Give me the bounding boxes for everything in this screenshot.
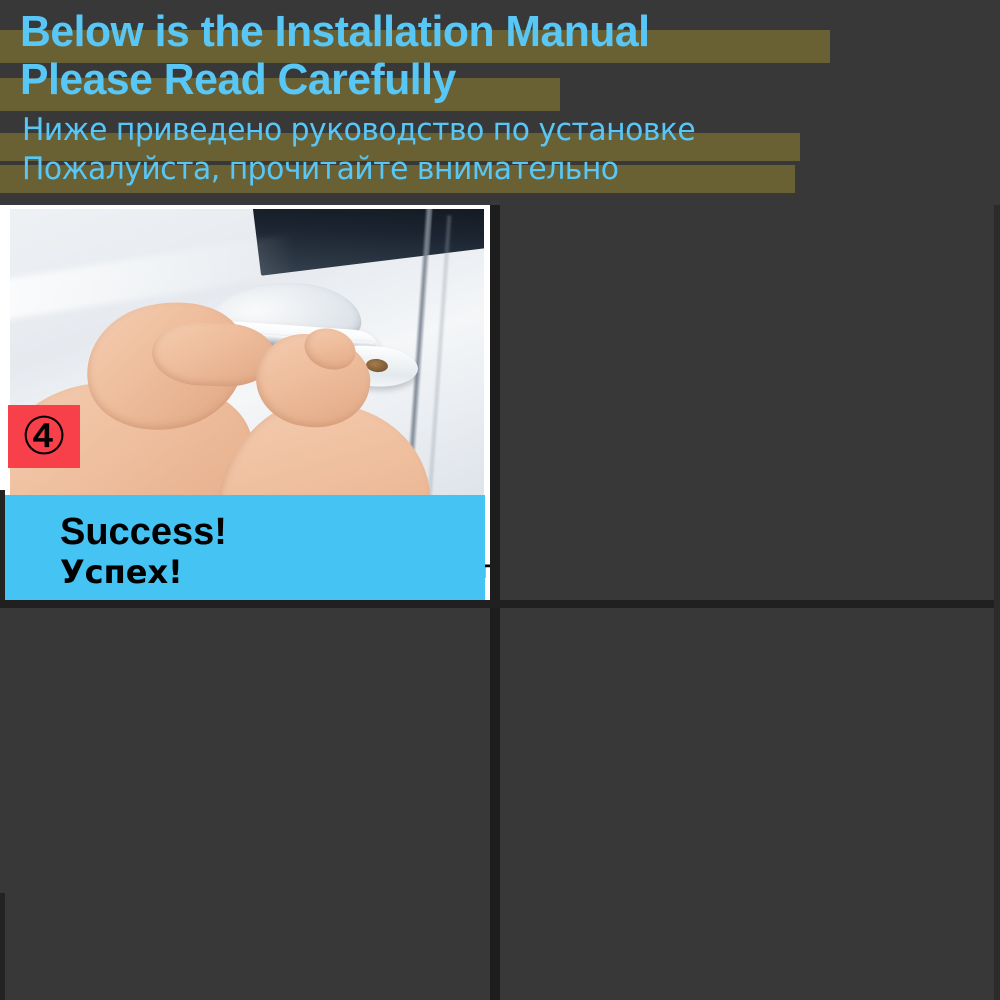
header-title-en-line2: Please Read Carefully xyxy=(20,56,456,104)
row-divider xyxy=(0,600,1000,608)
header-title-ru-line1: Ниже приведено руководство по установке xyxy=(22,113,695,148)
header-title-ru-line2: Пожалуйста, прочитайте внимательно xyxy=(22,152,619,187)
step-4-caption-en: Success! xyxy=(60,511,485,553)
header-title-en-line1: Below is the Installation Manual xyxy=(20,8,650,56)
step-card-4: ④ Success! Успех! xyxy=(0,205,490,600)
left-edge-shade-bottom xyxy=(0,893,5,1000)
step-number-4: ④ xyxy=(21,411,68,463)
step-4-caption: Success! Успех! xyxy=(5,495,485,600)
step-4-photo xyxy=(10,209,484,495)
step-badge-4: ④ xyxy=(8,405,80,468)
left-edge-shade-top xyxy=(0,490,5,600)
door-seam-secondary xyxy=(427,215,452,495)
steps-grid: ① Clean your car Убери свою машину xyxy=(0,205,1000,1000)
right-edge-shade xyxy=(994,205,1000,1000)
header-banner: Below is the Installation Manual Please … xyxy=(0,0,1000,205)
step-4-caption-ru: Успех! xyxy=(60,553,485,591)
